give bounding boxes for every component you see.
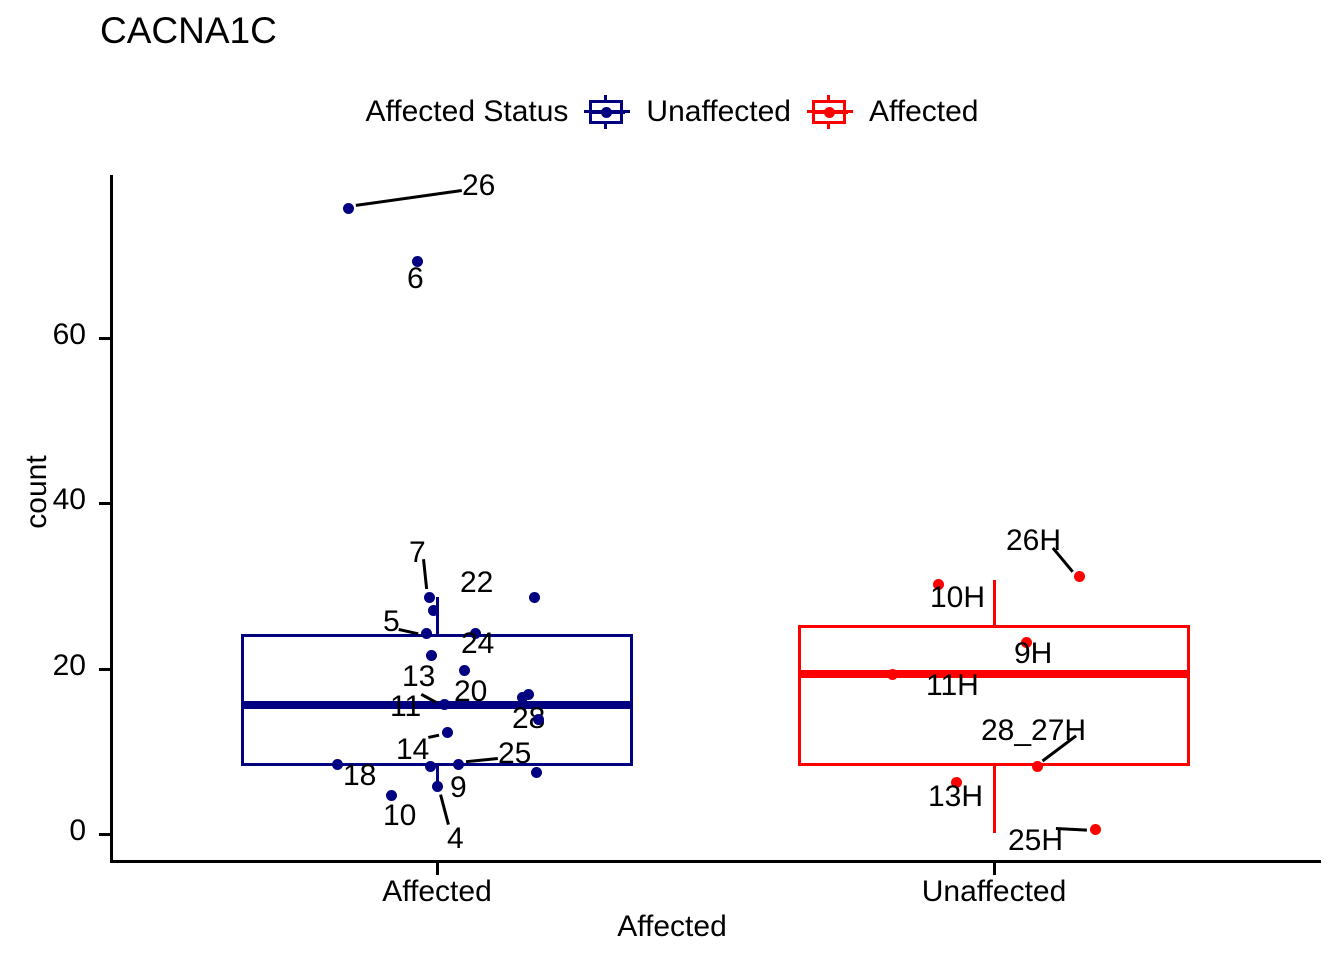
data-point[interactable]: [424, 592, 435, 603]
data-point-label: 9H: [1014, 637, 1052, 671]
x-tick-mark: [436, 863, 439, 875]
boxplot-figure: CACNA1C Affected Status Unaffected Affec…: [0, 0, 1344, 960]
page-title: CACNA1C: [100, 10, 277, 52]
data-point-label: 14: [396, 733, 429, 767]
y-tick-label: 0: [6, 814, 86, 848]
data-point-label: 26: [462, 169, 495, 203]
x-tick-label: Affected: [287, 875, 587, 909]
box-median-line: [241, 701, 633, 709]
data-point-label: 11H: [926, 669, 979, 703]
data-point[interactable]: [453, 759, 464, 770]
y-axis-line: [110, 175, 113, 863]
data-point-label: 13H: [928, 780, 983, 814]
data-point[interactable]: [428, 605, 439, 616]
data-point[interactable]: [332, 759, 343, 770]
data-point-label: 10: [383, 799, 416, 833]
data-point[interactable]: [1032, 761, 1043, 772]
data-point-label: 10H: [930, 581, 985, 615]
y-tick-label: 40: [6, 483, 86, 517]
x-tick-mark: [993, 863, 996, 875]
data-point-label: 5: [383, 605, 400, 639]
box-whisker-upper: [436, 597, 439, 633]
data-point-label: 9: [450, 771, 467, 805]
y-tick-label: 60: [6, 318, 86, 352]
data-point[interactable]: [421, 628, 432, 639]
y-tick-mark: [99, 337, 111, 340]
label-leader-line: [439, 794, 450, 825]
legend-key-affected: [807, 95, 853, 129]
y-tick-mark: [99, 668, 111, 671]
data-point[interactable]: [425, 761, 436, 772]
data-point[interactable]: [529, 592, 540, 603]
legend: Affected Status Unaffected Affected: [0, 88, 1344, 136]
data-point-label: 20: [454, 675, 487, 709]
data-point-label: 25: [498, 737, 531, 771]
data-point-label: 26H: [1006, 524, 1061, 558]
data-point[interactable]: [887, 669, 898, 680]
data-point-label: 6: [407, 262, 424, 296]
data-point-label: 18: [343, 759, 376, 793]
data-point-label: 11: [390, 690, 421, 724]
box-whisker-upper: [993, 580, 996, 626]
data-point[interactable]: [1090, 824, 1101, 835]
data-point[interactable]: [426, 650, 437, 661]
legend-key-unaffected: [584, 95, 630, 129]
label-leader-line: [356, 189, 462, 207]
legend-label-affected[interactable]: Affected: [869, 95, 979, 129]
x-axis-title: Affected: [0, 910, 1344, 944]
y-tick-mark: [99, 833, 111, 836]
y-tick-mark: [99, 502, 111, 505]
data-point-label: 22: [460, 566, 493, 600]
data-point[interactable]: [459, 665, 470, 676]
data-point[interactable]: [439, 699, 450, 710]
data-point-label: 28_27H: [981, 714, 1086, 748]
data-point[interactable]: [343, 203, 354, 214]
legend-label-unaffected[interactable]: Unaffected: [646, 95, 791, 129]
x-tick-label: Unaffected: [844, 875, 1144, 909]
legend-title: Affected Status: [365, 95, 568, 129]
data-point[interactable]: [1074, 571, 1085, 582]
data-point[interactable]: [432, 781, 443, 792]
label-leader-line: [422, 559, 428, 589]
data-point-label: 25H: [1008, 824, 1063, 858]
box-median-line: [798, 670, 1190, 678]
data-point[interactable]: [442, 727, 453, 738]
data-point-label: 4: [447, 822, 464, 856]
data-point-label: 24: [461, 627, 494, 661]
data-point[interactable]: [531, 767, 542, 778]
x-axis-line: [110, 860, 1321, 863]
box-whisker-lower: [993, 766, 996, 833]
y-tick-label: 20: [6, 649, 86, 683]
data-point[interactable]: [533, 714, 544, 725]
label-leader-line: [1052, 547, 1074, 573]
data-point[interactable]: [523, 689, 534, 700]
